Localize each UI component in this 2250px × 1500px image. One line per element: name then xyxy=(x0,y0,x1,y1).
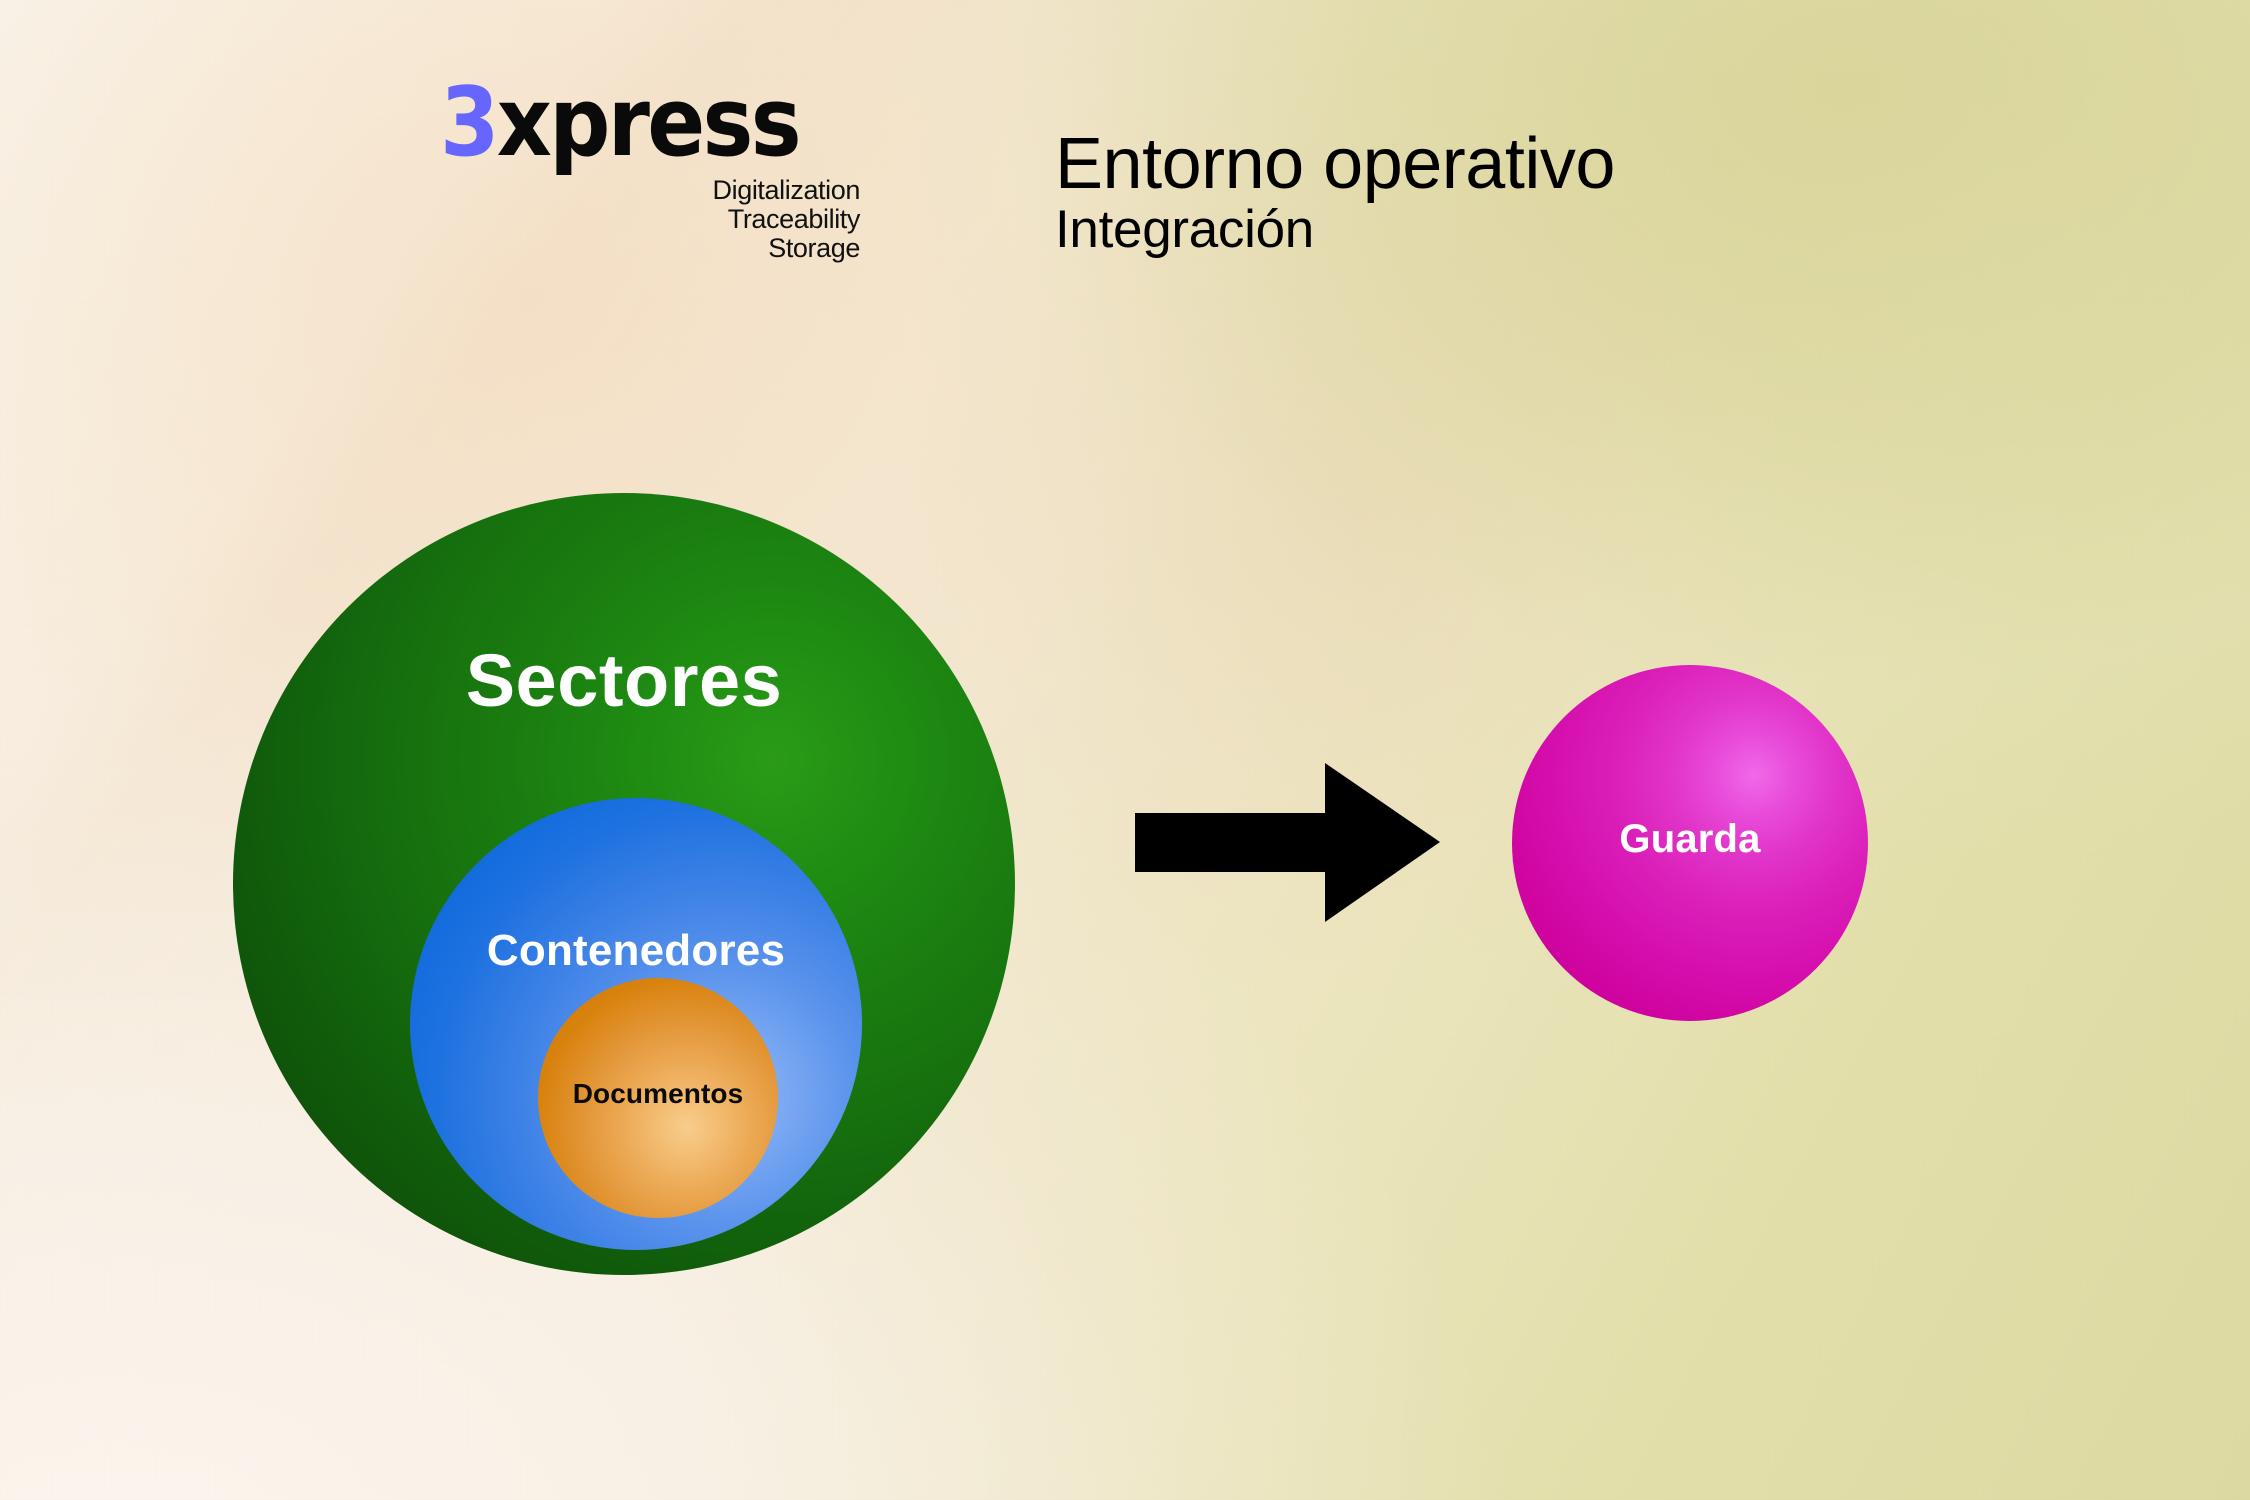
node-guarda-label: Guarda xyxy=(1512,817,1868,862)
brand-logo: 3xpress Digitalization Traceability Stor… xyxy=(440,78,860,263)
node-documentos-label: Documentos xyxy=(538,1078,778,1110)
logo-tagline: Digitalization Traceability Storage xyxy=(440,176,860,263)
arrow-right-icon xyxy=(1130,755,1445,930)
node-contenedores[interactable]: Contenedores Documentos xyxy=(410,798,862,1250)
tagline-line-traceability: Traceability xyxy=(440,205,860,234)
tagline-line-storage: Storage xyxy=(440,234,860,263)
logo-wordmark: 3xpress xyxy=(440,78,818,168)
page-title: Entorno operativo xyxy=(1055,128,1615,200)
page-subtitle: Integración xyxy=(1055,200,1615,259)
node-sectores[interactable]: Sectores Contenedores Documentos xyxy=(233,493,1015,1275)
logo-numeral-3: 3 xyxy=(440,68,497,178)
node-documentos[interactable]: Documentos xyxy=(538,978,778,1218)
node-guarda[interactable]: Guarda xyxy=(1512,665,1868,1021)
node-contenedores-label: Contenedores xyxy=(410,926,862,976)
arrow-shape xyxy=(1135,763,1440,922)
tagline-line-digitalization: Digitalization xyxy=(440,176,860,205)
logo-text-xpress: xpress xyxy=(497,68,799,178)
node-sectores-label: Sectores xyxy=(233,638,1015,723)
slide-canvas: 3xpress Digitalization Traceability Stor… xyxy=(0,0,2250,1500)
slide-header: Entorno operativo Integración xyxy=(1055,128,1615,259)
